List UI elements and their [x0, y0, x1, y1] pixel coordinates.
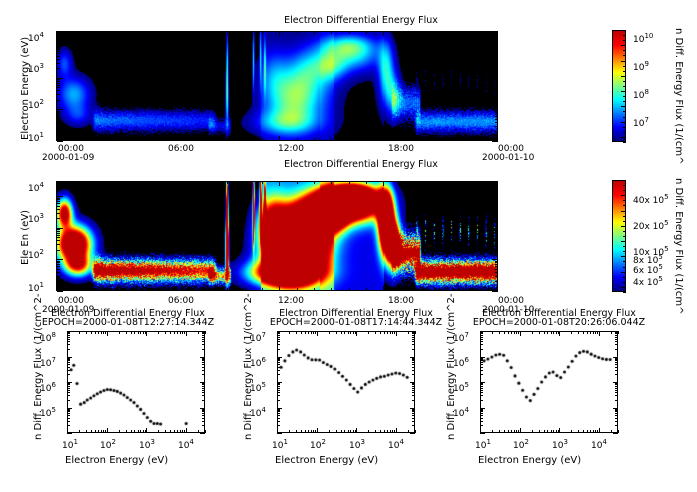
panel3-epoch: EPOCH=2000-01-08T12:27:14.344Z	[23, 317, 233, 328]
axis-tick	[57, 141, 63, 142]
panel2-colorbar-frame	[612, 180, 626, 292]
panel2-xtick-6: 06:00	[168, 296, 194, 306]
panel4-xtick-4: 104	[388, 438, 404, 451]
panel3-ylabel: n Diff. Energy Flux (1/(cm^2-	[33, 293, 44, 440]
panel4-epoch: EPOCH=2000-01-08T17:14:44.344Z	[251, 317, 461, 328]
panel1-cbtick-9: 109	[633, 60, 649, 73]
panel3-xtick-4: 104	[178, 438, 194, 451]
panel4-xlabel: Electron Energy (eV)	[275, 455, 378, 466]
panel1-xtick-12: 12:00	[278, 144, 304, 154]
panel2-cbtick-20: 20x 105	[633, 219, 669, 232]
panel5-xtick-2: 102	[513, 438, 529, 451]
panel3-frame	[67, 331, 205, 433]
axis-tick	[67, 433, 72, 434]
panel5-frame	[480, 331, 618, 433]
axis-tick	[618, 331, 619, 334]
panel1-cbtick-10: 1010	[633, 32, 653, 45]
panel4-ylabel: n Diff. Energy Flux (1/(cm^2-	[243, 293, 254, 440]
axis-tick	[277, 433, 282, 434]
panel2-ylabel: Ele En (eV)	[20, 210, 31, 265]
panel1-colorbar-frame	[612, 30, 626, 142]
panel5-xtick-4: 104	[591, 438, 607, 451]
panel1-colorbar-label: n Diff. Energy Flux (1/(cm^	[673, 28, 684, 165]
panel1-title: Electron Differential Energy Flux	[166, 15, 556, 26]
panel1-frame	[56, 31, 498, 141]
panel1-xdate-left: 2000-01-09	[42, 153, 94, 163]
axis-tick	[623, 142, 626, 143]
axis-tick	[492, 291, 498, 292]
axis-tick	[480, 433, 485, 434]
panel2-colorbar-label: n Diff. Energy Flux (1/(cm^	[673, 178, 684, 315]
panel1-ylabel: Electron Energy (eV)	[20, 37, 31, 140]
axis-tick	[200, 433, 205, 434]
axis-tick	[205, 331, 206, 334]
axis-tick	[492, 141, 498, 142]
panel1-cbtick-8: 108	[633, 88, 649, 101]
panel4-frame	[277, 331, 415, 433]
panel4-xtick-3: 103	[349, 438, 365, 451]
axis-tick	[623, 292, 626, 293]
panel1-cbtick-7: 107	[633, 116, 649, 129]
panel2-ytick-4: 104	[28, 181, 44, 194]
panel2-xtick-18: 18:00	[388, 296, 414, 306]
axis-tick	[613, 433, 618, 434]
panel2-frame	[56, 181, 498, 291]
panel5-ylabel: n Diff. Energy Flux (1/(cm^2-	[446, 293, 457, 440]
panel5-xtick-3: 103	[552, 438, 568, 451]
panel2-xtick-12: 12:00	[278, 296, 304, 306]
panel3-xlabel: Electron Energy (eV)	[65, 455, 168, 466]
panel5-epoch: EPOCH=2000-01-08T20:26:06.044Z	[454, 317, 664, 328]
panel1-xtick-6: 06:00	[168, 144, 194, 154]
panel5-xtick-1: 101	[475, 438, 491, 451]
axis-tick	[415, 331, 416, 334]
panel3-xtick-1: 101	[62, 438, 78, 451]
panel4-xtick-2: 102	[310, 438, 326, 451]
axis-tick	[205, 430, 206, 433]
axis-tick	[618, 430, 619, 433]
panel2-cbtick-4: 4x 105	[633, 275, 663, 288]
panel2-title: Electron Differential Energy Flux	[166, 159, 556, 170]
figure-canvas: Electron Differential Energy Flux 104 10…	[0, 0, 697, 492]
panel4-xtick-1: 101	[272, 438, 288, 451]
axis-tick	[57, 291, 63, 292]
panel3-xtick-2: 102	[100, 438, 116, 451]
axis-tick	[415, 430, 416, 433]
panel1-xtick-18: 18:00	[388, 144, 414, 154]
panel5-xlabel: Electron Energy (eV)	[478, 455, 581, 466]
panel2-cbtick-40: 40x 105	[633, 193, 669, 206]
axis-tick	[410, 433, 415, 434]
panel3-xtick-3: 103	[139, 438, 155, 451]
